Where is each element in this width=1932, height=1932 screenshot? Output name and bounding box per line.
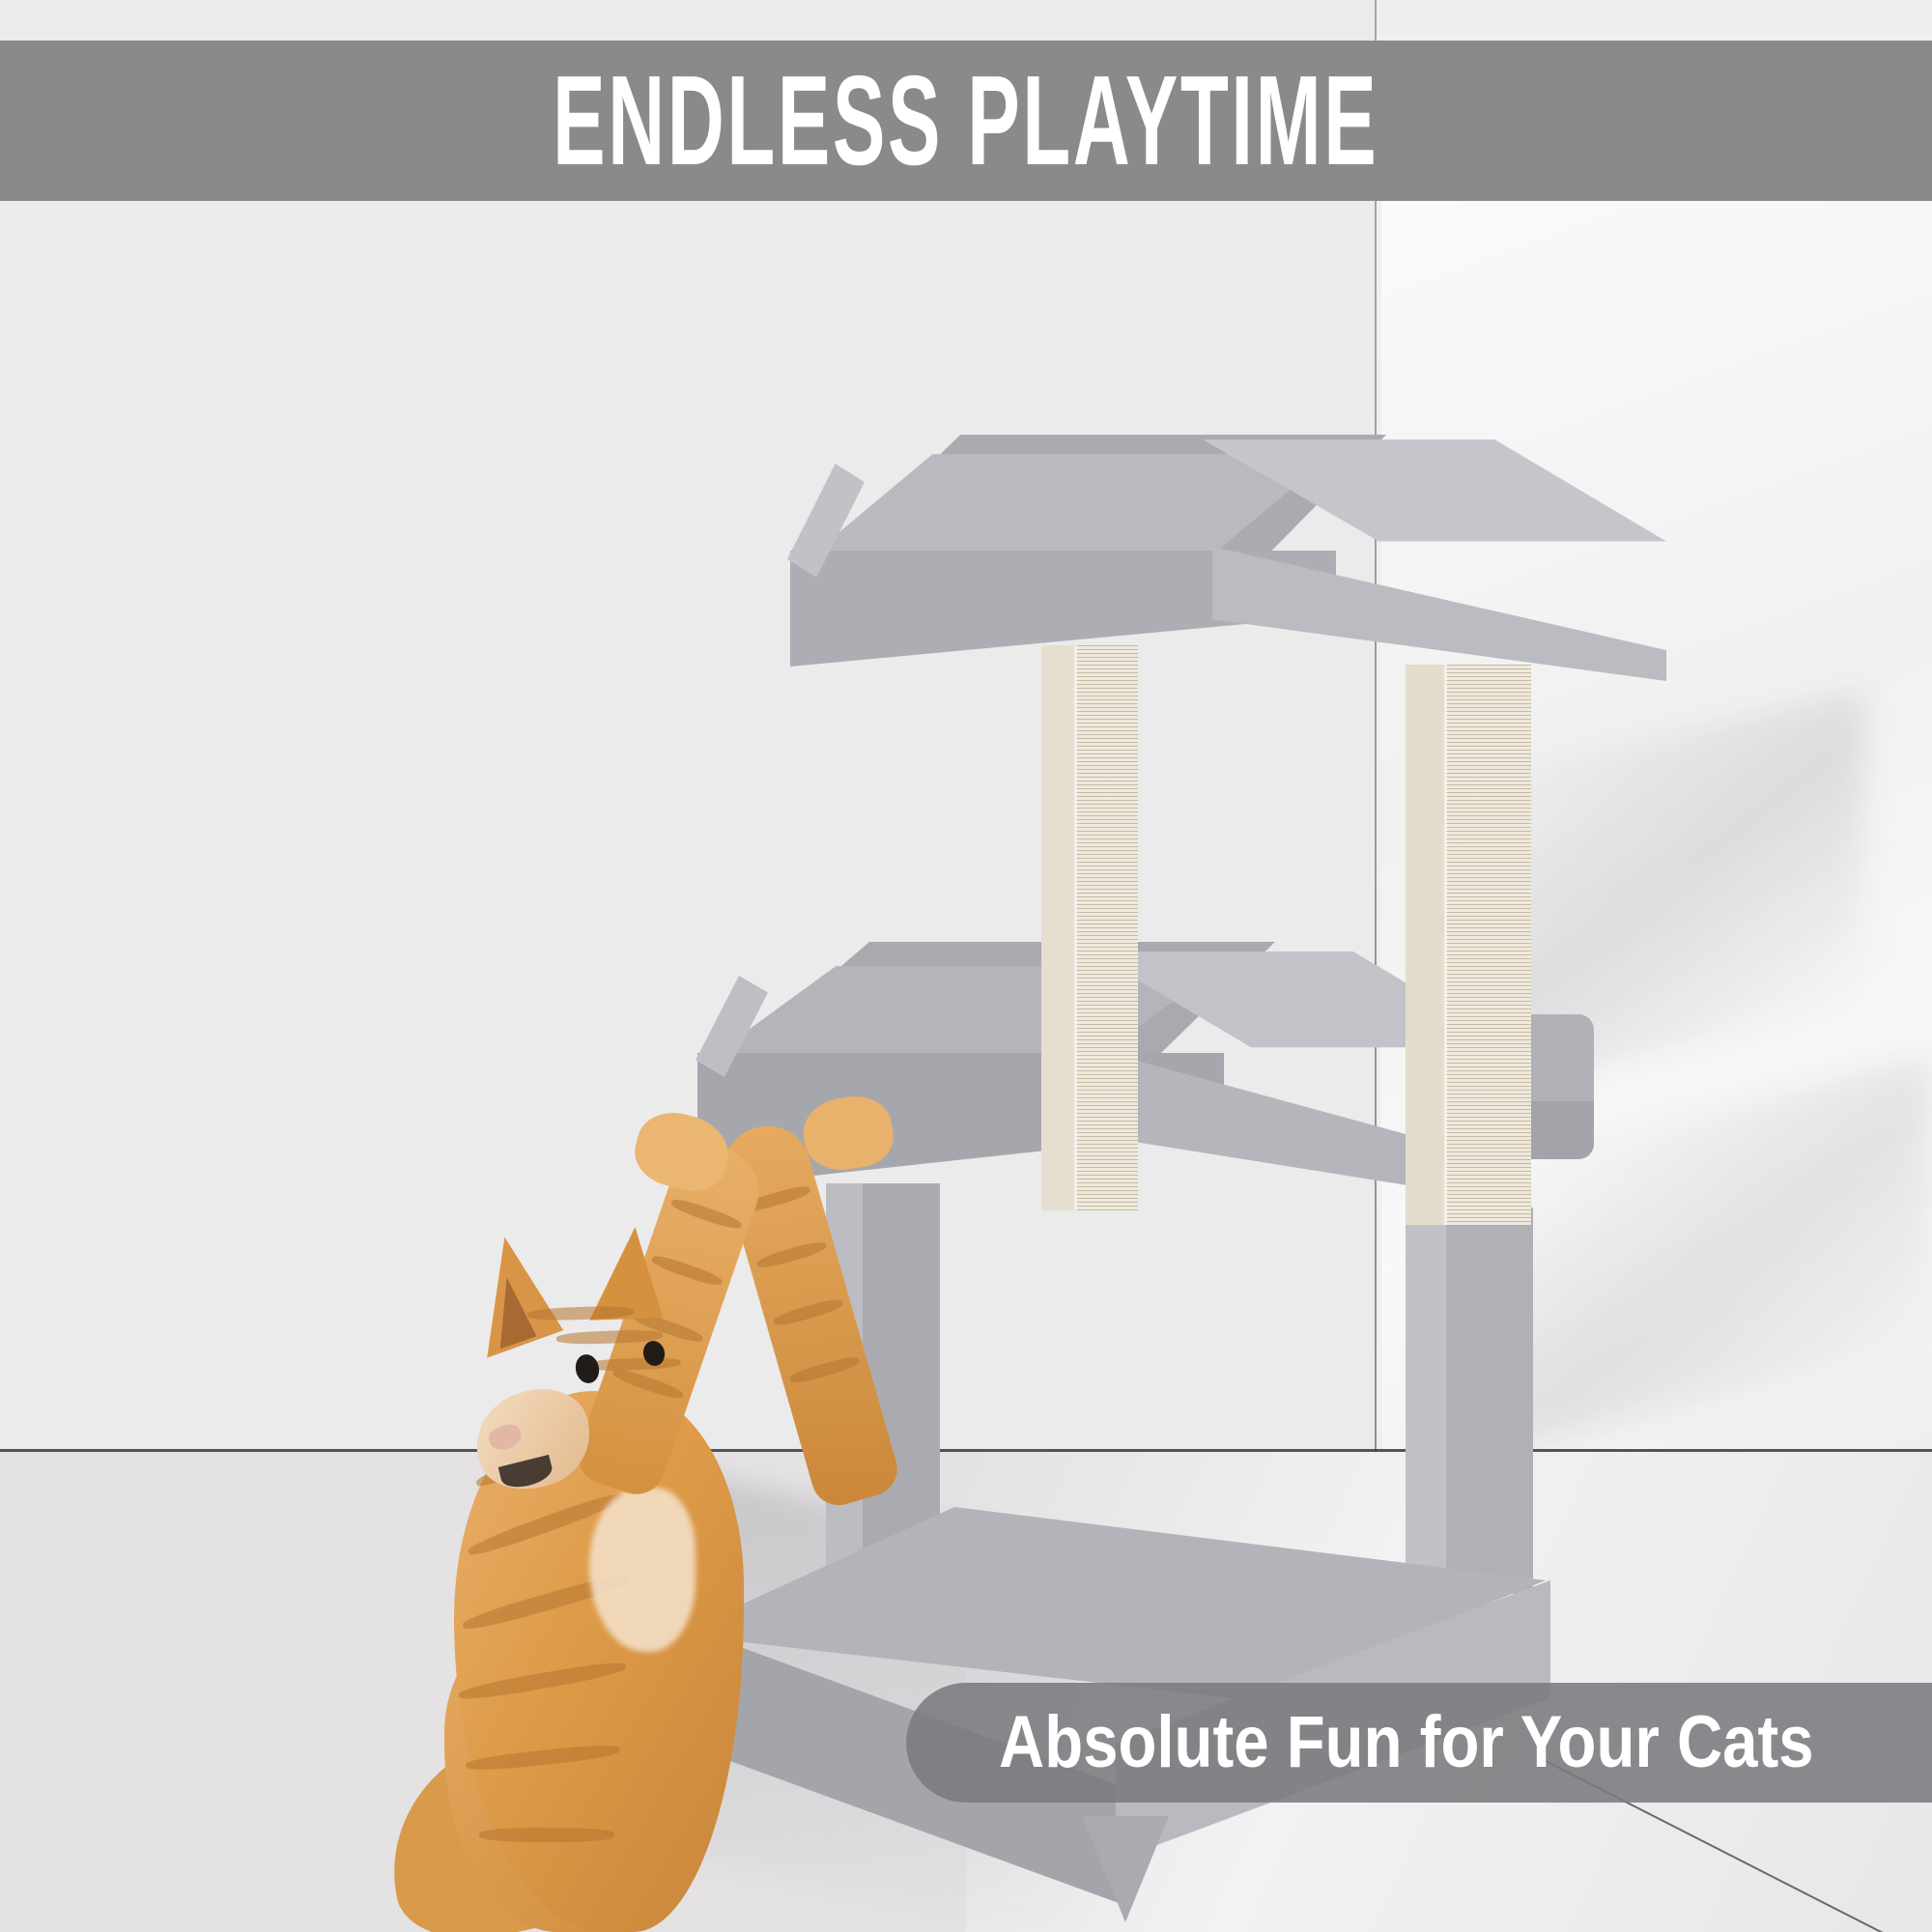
sisal-post-right-front bbox=[1446, 665, 1531, 1225]
top-headline-banner: ENDLESS PLAYTIME bbox=[0, 41, 1932, 201]
sisal-post-left bbox=[1041, 645, 1138, 1210]
cat-tree-tower bbox=[0, 0, 1932, 1932]
product-image-canvas: ENDLESS PLAYTIME Absolute Fun for Your C… bbox=[0, 0, 1932, 1932]
sisal-post-left-front bbox=[1076, 645, 1138, 1210]
cat-paw-far bbox=[799, 1092, 896, 1175]
sisal-post-right-edge bbox=[1444, 665, 1447, 1225]
orange-tabby-cat bbox=[386, 1101, 927, 1932]
sisal-post-left-edge bbox=[1074, 645, 1077, 1210]
headline-text: ENDLESS PLAYTIME bbox=[553, 57, 1378, 185]
sisal-post-right bbox=[1406, 665, 1531, 1225]
sisal-post-right-side bbox=[1406, 665, 1446, 1225]
caption-text: Absolute Fun for Your Cats bbox=[999, 1706, 1814, 1779]
sisal-post-left-side bbox=[1041, 645, 1076, 1210]
support-leg-right-highlight bbox=[1406, 1207, 1446, 1594]
bottom-caption-badge: Absolute Fun for Your Cats bbox=[906, 1683, 1932, 1803]
